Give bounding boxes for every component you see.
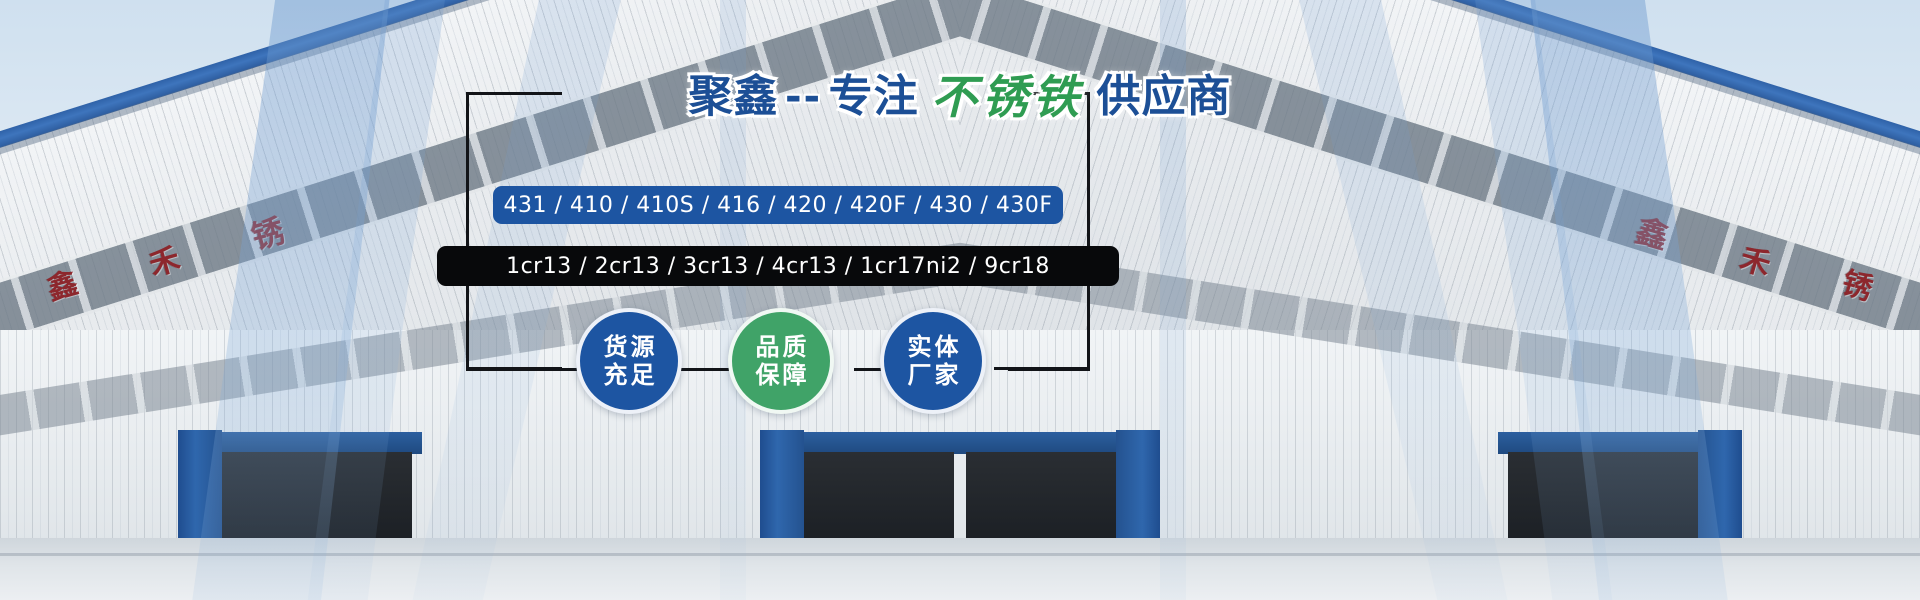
connector-line bbox=[1008, 368, 1090, 371]
feature-badge-line1: 实体 bbox=[905, 333, 962, 361]
promo-banner: 鑫 禾 锈 bbox=[0, 0, 1920, 600]
feature-badge-line1: 品质 bbox=[753, 333, 810, 361]
feature-badge-line2: 充足 bbox=[601, 361, 658, 389]
feature-badge-line2: 保障 bbox=[753, 361, 810, 389]
ground-apron bbox=[960, 538, 1920, 600]
ground-seam bbox=[960, 553, 1920, 556]
feature-badge-factory: 实体 厂家 bbox=[880, 308, 986, 414]
steel-grades-secondary-text: 1cr13 / 2cr13 / 3cr13 / 4cr13 / 1cr17ni2… bbox=[506, 254, 1050, 279]
headline-product: 不锈铁 bbox=[923, 74, 1092, 120]
headline-brand: 聚鑫 bbox=[688, 75, 778, 119]
feature-badge-supply: 货源 充足 bbox=[576, 308, 682, 414]
headline-focus: 专注 bbox=[829, 75, 919, 119]
ground-apron bbox=[0, 538, 960, 600]
ground-seam bbox=[0, 553, 960, 556]
steel-grades-primary-text: 431 / 410 / 410S / 416 / 420 / 420F / 43… bbox=[504, 193, 1053, 218]
feature-badge-line2: 厂家 bbox=[905, 361, 962, 389]
steel-grades-primary-pill: 431 / 410 / 410S / 416 / 420 / 420F / 43… bbox=[493, 186, 1063, 224]
banner-headline: 聚鑫 -- 专注 不锈铁 供应商 bbox=[0, 74, 1920, 120]
connector-line bbox=[466, 368, 586, 371]
feature-badges-row: 货源 充足 品质 保障 实体 厂家 bbox=[466, 308, 1090, 428]
headline-dash: -- bbox=[783, 77, 824, 117]
feature-badge-quality: 品质 保障 bbox=[728, 308, 834, 414]
steel-grades-secondary-pill: 1cr13 / 2cr13 / 3cr13 / 4cr13 / 1cr17ni2… bbox=[437, 246, 1119, 286]
headline-role: 供应商 bbox=[1097, 75, 1232, 119]
feature-badge-line1: 货源 bbox=[601, 333, 658, 361]
